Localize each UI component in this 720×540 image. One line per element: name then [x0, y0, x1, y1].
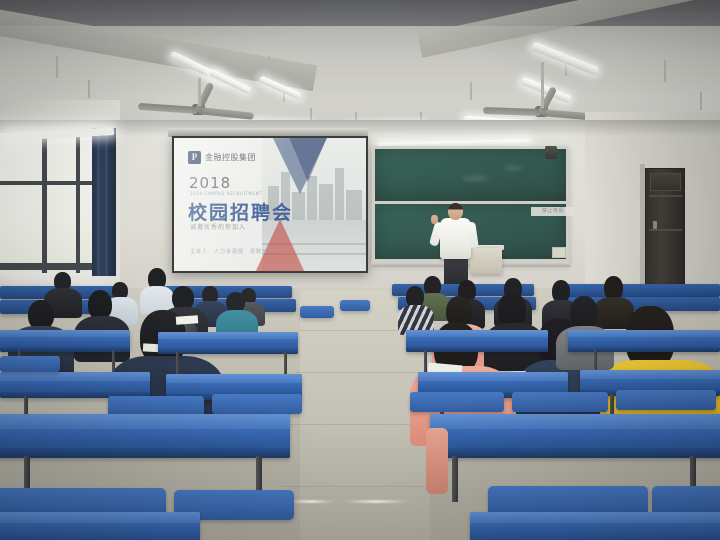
door-handle[interactable]	[653, 221, 657, 229]
desk-surface	[0, 330, 130, 337]
chair-back[interactable]	[410, 392, 504, 412]
light-rod	[470, 82, 472, 100]
presenter-raised-hand	[431, 215, 438, 224]
company-logo-icon: P	[188, 151, 201, 164]
wall-speaker-icon	[545, 146, 557, 159]
slide-chevron-red	[254, 219, 306, 271]
desk-row-4-left[interactable]	[0, 372, 150, 398]
desk-surface	[430, 414, 720, 429]
chalk-smudge	[462, 176, 488, 181]
slide-year: 2018	[189, 174, 231, 192]
floor-light-reflection	[344, 500, 408, 503]
slide-building	[335, 168, 344, 220]
desk-surface	[470, 512, 720, 523]
blackboard-panel-upper	[375, 149, 566, 201]
slide-english-subline: 2018 CAMPUS RECRUITMENT	[190, 191, 262, 196]
door-rail	[649, 195, 682, 197]
curtain-fold	[105, 128, 108, 276]
lectern	[470, 248, 502, 274]
desk-surface	[0, 414, 290, 429]
classroom-photo: P 金融控股集团 2018 2018 CAMPUS RECRUITMENT 校园…	[0, 0, 720, 540]
window-sill	[0, 263, 95, 270]
wall-sign: 禁止吸烟	[531, 207, 575, 216]
light-rod	[88, 80, 90, 98]
desk-leg	[452, 456, 458, 502]
slide-logo: P 金融控股集团	[188, 151, 256, 164]
slide-building	[346, 190, 362, 220]
chair-back-side[interactable]	[340, 300, 370, 311]
chair-back[interactable]	[512, 392, 608, 412]
slide-chevron-blue-2	[286, 138, 330, 182]
student-head	[570, 296, 598, 330]
curtain-fold	[97, 128, 100, 276]
light-rod	[664, 60, 666, 82]
desk-surface	[0, 512, 200, 523]
desk-surface	[158, 332, 298, 339]
desk-foreground-left[interactable]	[0, 414, 290, 458]
desk-surface	[568, 330, 720, 337]
chair-back[interactable]	[616, 390, 716, 410]
desk-surface	[0, 372, 150, 381]
slide-title: 校园招聘会	[188, 198, 293, 225]
desk-foreground-right[interactable]	[430, 414, 720, 458]
fan-rod	[198, 78, 201, 106]
company-name: 金融控股集团	[205, 152, 256, 163]
desk-front-edge	[430, 448, 720, 458]
fan-rod	[541, 62, 544, 108]
slide-footer: 主讲人：人力资源部 招聘宣讲	[190, 248, 274, 255]
desk-front-edge	[406, 347, 548, 352]
desk-leg	[112, 350, 115, 374]
light-rod	[56, 56, 58, 78]
window-mullion	[0, 181, 95, 185]
desk-bottom-left[interactable]	[0, 512, 200, 540]
paper-sheet	[176, 315, 199, 325]
desk-surface	[418, 372, 568, 381]
desk-surface	[406, 330, 548, 337]
desk-row-back	[556, 284, 720, 297]
desk-surface	[166, 374, 302, 383]
classroom-door[interactable]	[645, 168, 685, 286]
desk-bottom-right[interactable]	[470, 512, 720, 540]
desk-row-3-right[interactable]	[406, 330, 548, 352]
desk-row-3-center[interactable]	[158, 332, 298, 354]
slide-subtitle: 诚邀优秀的你加入	[190, 222, 246, 231]
chair-back-side[interactable]	[0, 356, 60, 372]
window	[0, 133, 95, 273]
projection-screen[interactable]: P 金融控股集团 2018 2018 CAMPUS RECRUITMENT 校园…	[172, 136, 368, 273]
floor-tile-line	[296, 372, 434, 373]
desk-front-edge	[0, 448, 290, 458]
chalk-smudge	[504, 166, 522, 170]
desk-front-edge	[158, 349, 298, 354]
chair-back[interactable]	[212, 394, 302, 414]
desk-row-3-far-right[interactable]	[568, 330, 720, 352]
door-rail	[649, 229, 682, 231]
wall-socket[interactable]	[552, 247, 566, 258]
window-mullion	[76, 133, 80, 273]
floor-tile-line	[282, 486, 448, 487]
door-transom-window	[650, 173, 681, 191]
window-curtain	[92, 128, 116, 276]
presentation-slide: P 金融控股集团 2018 2018 CAMPUS RECRUITMENT 校园…	[174, 138, 366, 271]
chair-back-side[interactable]	[300, 306, 334, 318]
chair-back[interactable]	[108, 396, 204, 416]
slide-building	[292, 192, 305, 220]
pink-garment-on-chair	[426, 428, 448, 494]
desk-front-edge	[568, 347, 720, 352]
desk-surface	[580, 370, 720, 379]
presenter-head	[448, 203, 463, 220]
window-mullion	[42, 133, 47, 273]
light-rod	[700, 92, 702, 110]
floor-light-reflection	[288, 500, 334, 503]
desk-row-3-left[interactable]	[0, 330, 130, 352]
